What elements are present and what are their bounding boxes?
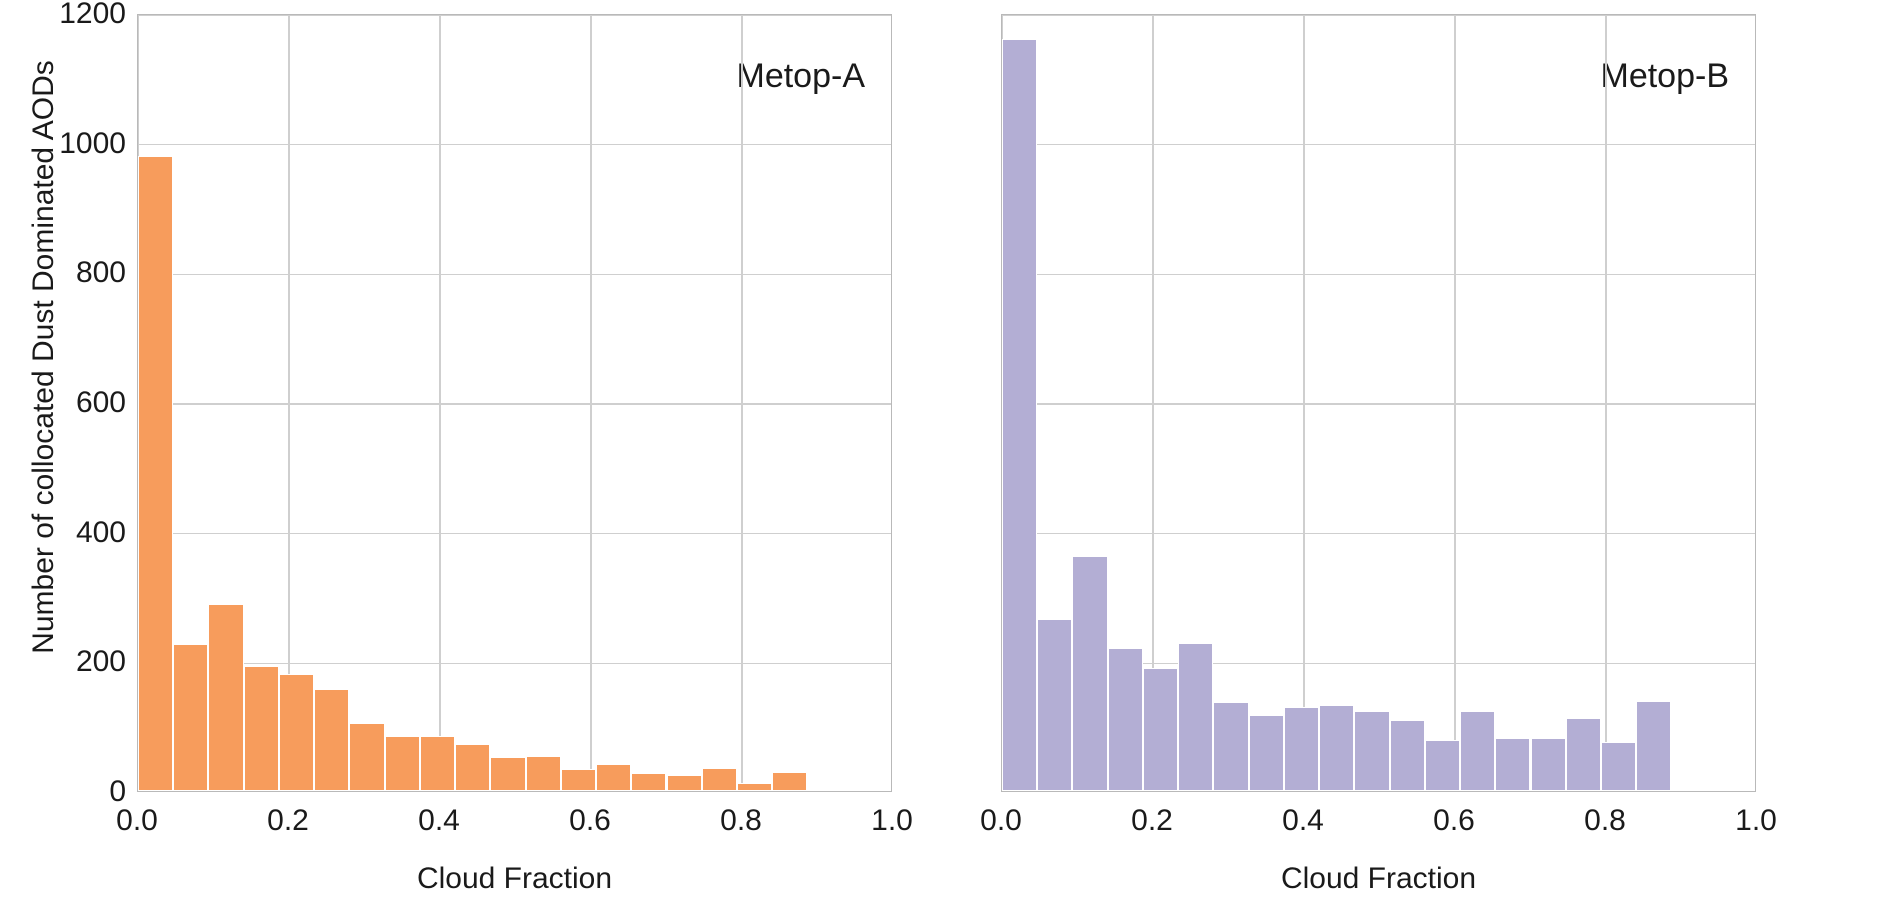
histogram-bar <box>1354 711 1389 791</box>
y-tick-label: 600 <box>6 388 126 418</box>
histogram-bar <box>1108 648 1143 791</box>
x-tick-label: 1.0 <box>1696 806 1816 836</box>
figure-root: Number of collocated Dust Dominated AODs… <box>0 0 1892 899</box>
histogram-bar <box>1002 39 1037 791</box>
histogram-bar <box>1213 702 1248 791</box>
histogram-bar <box>1390 720 1425 791</box>
y-axis-tick-labels: 020040060080010001200 <box>0 14 126 792</box>
histogram-bar <box>702 768 737 791</box>
histogram-bar <box>631 773 666 791</box>
y-tick-label: 800 <box>6 258 126 288</box>
x-tick-label: 0.6 <box>1394 806 1514 836</box>
histogram-bar <box>1425 740 1460 791</box>
x-tick-label: 0.2 <box>228 806 348 836</box>
histogram-bar <box>1037 619 1072 791</box>
x-tick-label: 0.2 <box>1092 806 1212 836</box>
x-tick-label: 0.8 <box>681 806 801 836</box>
panel-metop-b: Metop-B <box>1001 14 1756 792</box>
x-tick-label: 0.6 <box>530 806 650 836</box>
histogram-bar <box>314 689 349 791</box>
histogram-bar <box>1531 738 1566 791</box>
x-tick-label: 0.4 <box>379 806 499 836</box>
panel-metop-a: Metop-A <box>137 14 892 792</box>
histogram-bar <box>385 736 420 791</box>
histogram-bar <box>1143 668 1178 791</box>
histogram-bar <box>737 783 772 791</box>
histogram-bar <box>526 756 561 791</box>
histogram-bar <box>455 744 490 791</box>
x-tick-label: 0.0 <box>77 806 197 836</box>
histogram-bar <box>1566 718 1601 791</box>
histogram-bar <box>138 156 173 791</box>
histogram-bar <box>596 764 631 791</box>
plot-area-metop-a: Metop-A <box>137 14 892 792</box>
histogram-bar <box>420 736 455 791</box>
histogram-bar <box>1249 715 1284 791</box>
histogram-bar <box>1460 711 1495 791</box>
bar-series-metop-a <box>138 15 891 791</box>
histogram-bar <box>1072 556 1107 791</box>
y-tick-label: 200 <box>6 647 126 677</box>
histogram-bar <box>1319 705 1354 791</box>
x-tick-label: 0.8 <box>1545 806 1665 836</box>
histogram-bar <box>208 604 243 791</box>
y-tick-label: 1000 <box>6 129 126 159</box>
x-tick-label: 0.4 <box>1243 806 1363 836</box>
y-tick-label: 0 <box>6 777 126 807</box>
histogram-bar <box>173 644 208 791</box>
histogram-bar <box>561 769 596 791</box>
histogram-bar <box>667 775 702 791</box>
plot-area-metop-b: Metop-B <box>1001 14 1756 792</box>
x-axis-title-metop-b: Cloud Fraction <box>1001 862 1756 896</box>
y-tick-label: 400 <box>6 518 126 548</box>
histogram-bar <box>1495 738 1530 791</box>
histogram-bar <box>772 772 807 791</box>
histogram-bar <box>1601 742 1636 791</box>
histogram-bar <box>1636 701 1671 791</box>
histogram-bar <box>1284 707 1319 791</box>
histogram-bar <box>244 666 279 791</box>
bar-series-metop-b <box>1002 15 1755 791</box>
histogram-bar <box>490 757 525 791</box>
x-tick-label: 0.0 <box>941 806 1061 836</box>
histogram-bar <box>279 674 314 791</box>
histogram-bar <box>349 723 384 791</box>
x-tick-label: 1.0 <box>832 806 952 836</box>
y-tick-label: 1200 <box>6 0 126 29</box>
histogram-bar <box>1178 643 1213 791</box>
x-axis-title-metop-a: Cloud Fraction <box>137 862 892 896</box>
